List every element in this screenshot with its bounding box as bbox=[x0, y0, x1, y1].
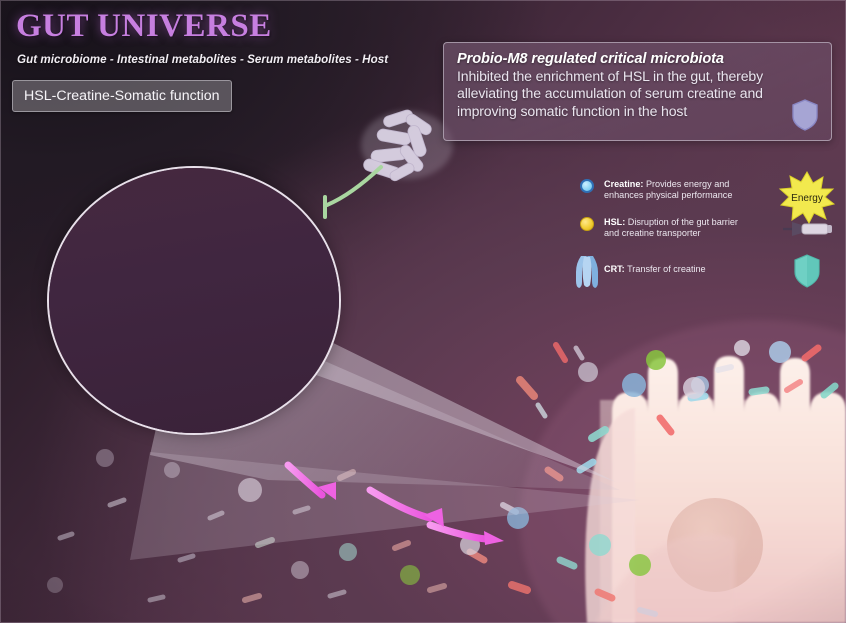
legend-item-hsl: HSL: Disruption of the gut barrier and c… bbox=[570, 216, 832, 240]
topic-chip[interactable]: HSL-Creatine-Somatic function bbox=[12, 80, 232, 112]
legend-term-hsl: HSL: bbox=[604, 217, 625, 227]
shield-icon bbox=[791, 99, 819, 131]
legend-item-creatine: Creatine: Provides energy and enhances p… bbox=[570, 178, 832, 202]
syringe-icon bbox=[778, 218, 836, 240]
page-subtitle: Gut microbiome - Intestinal metabolites … bbox=[17, 53, 388, 66]
key-finding-callout: Probio-M8 regulated critical microbiota … bbox=[443, 42, 832, 141]
page-title: GUT UNIVERSE bbox=[16, 8, 272, 45]
legend-term-crt: CRT: bbox=[604, 264, 625, 274]
legend-text-crt: CRT: Transfer of creatine bbox=[604, 254, 754, 275]
legend-text-hsl: HSL: Disruption of the gut barrier and c… bbox=[604, 216, 754, 240]
callout-heading: Probio-M8 regulated critical microbiota bbox=[457, 51, 818, 67]
legend-term-creatine: Creatine: bbox=[604, 179, 643, 189]
legend-desc-crt: Transfer of creatine bbox=[627, 264, 706, 274]
yellow-circle-marker bbox=[570, 216, 604, 231]
legend-desc-hsl: Disruption of the gut barrier and creati… bbox=[604, 217, 738, 238]
energy-label: Energy bbox=[791, 193, 823, 204]
teal-shield-icon bbox=[778, 254, 836, 288]
figure-canvas: GUT UNIVERSE Gut microbiome - Intestinal… bbox=[0, 0, 846, 623]
legend: Creatine: Provides energy and enhances p… bbox=[570, 178, 832, 303]
blue-circle-marker bbox=[570, 178, 604, 193]
gut-lumen-magnified-view bbox=[47, 166, 341, 435]
crt-transporter-marker bbox=[570, 254, 604, 289]
legend-item-crt: CRT: Transfer of creatine bbox=[570, 254, 832, 289]
callout-body: Inhibited the enrichment of HSL in the g… bbox=[457, 68, 818, 120]
legend-text-creatine: Creatine: Provides energy and enhances p… bbox=[604, 178, 754, 202]
